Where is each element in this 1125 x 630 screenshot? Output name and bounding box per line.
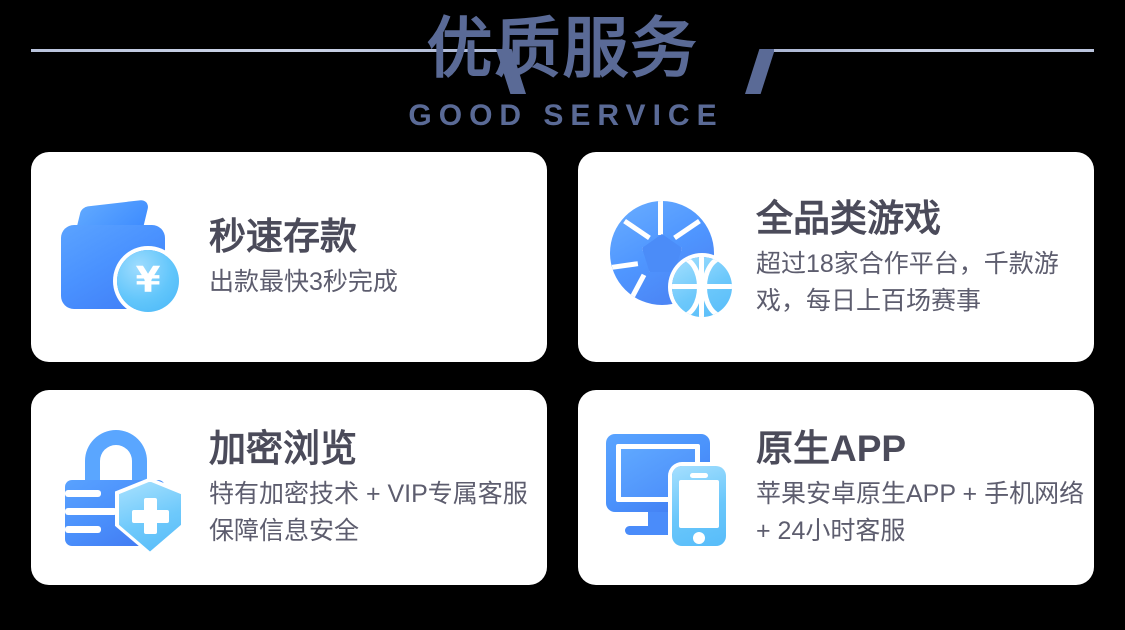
card-title: 原生APP: [756, 425, 1094, 472]
card-title: 秒速存款: [209, 213, 547, 260]
page-subtitle: GOOD SERVICE: [0, 99, 1125, 133]
feature-card-games[interactable]: 全品类游戏 超过18家合作平台，千款游戏，每日上百场赛事: [578, 152, 1094, 362]
soccer-basketball-icon: [604, 187, 744, 327]
card-subtitle: 特有加密技术 + VIP专属客服保障信息安全: [209, 476, 539, 550]
good-service-banner: 优质服务 GOOD SERVICE ¥ 秒速存款 出款最快3秒完成: [0, 0, 1125, 630]
feature-card-grid: ¥ 秒速存款 出款最快3秒完成: [31, 152, 1094, 585]
card-subtitle: 苹果安卓原生APP + 手机网络 + 24小时客服: [756, 476, 1086, 550]
card-title: 全品类游戏: [756, 195, 1094, 242]
wallet-coin-icon: ¥: [57, 187, 197, 327]
page-title: 优质服务: [0, 5, 1125, 91]
card-title: 加密浏览: [209, 425, 547, 472]
card-text-block: 全品类游戏 超过18家合作平台，千款游戏，每日上百场赛事: [756, 195, 1094, 320]
card-subtitle: 出款最快3秒完成: [209, 264, 547, 301]
monitor-phone-icon: [604, 418, 744, 558]
basketball-icon: [672, 257, 732, 317]
card-text-block: 秒速存款 出款最快3秒完成: [209, 213, 547, 301]
feature-card-encryption[interactable]: 加密浏览 特有加密技术 + VIP专属客服保障信息安全: [31, 390, 547, 585]
yen-symbol-icon: ¥: [117, 250, 179, 312]
feature-card-deposit[interactable]: ¥ 秒速存款 出款最快3秒完成: [31, 152, 547, 362]
card-text-block: 加密浏览 特有加密技术 + VIP专属客服保障信息安全: [209, 425, 547, 550]
banner-header: 优质服务 GOOD SERVICE: [0, 0, 1125, 145]
card-text-block: 原生APP 苹果安卓原生APP + 手机网络 + 24小时客服: [756, 425, 1094, 550]
feature-card-native-app[interactable]: 原生APP 苹果安卓原生APP + 手机网络 + 24小时客服: [578, 390, 1094, 585]
card-subtitle: 超过18家合作平台，千款游戏，每日上百场赛事: [756, 246, 1086, 320]
lock-shield-icon: [57, 418, 197, 558]
